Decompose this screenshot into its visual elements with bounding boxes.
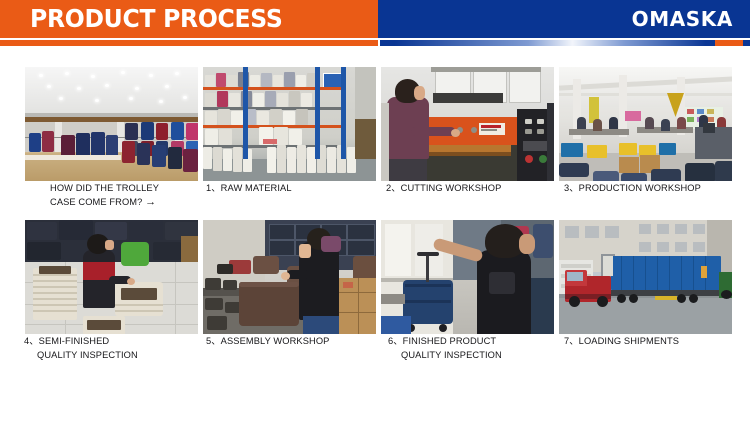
caption-raw-material: 1、RAW MATERIAL	[202, 182, 381, 196]
thumb-loading-shipments[interactable]	[558, 219, 733, 335]
caption-intro: HOW DID THE TROLLEY CASE COME FROM? →	[24, 182, 225, 209]
caption-assembly-number: 5、	[206, 336, 221, 346]
process-cell-intro: HOW DID THE TROLLEY CASE COME FROM? →	[24, 66, 199, 209]
caption-assembly-label: ASSEMBLY WORKSHOP	[221, 336, 330, 346]
caption-raw-material-number: 1、	[206, 183, 221, 193]
caption-finished-qc-line2: QUALITY INSPECTION	[388, 349, 563, 363]
caption-semi-finished-line2: QUALITY INSPECTION	[24, 349, 199, 363]
thumb-finished-product-inspection[interactable]	[380, 219, 555, 335]
thumb-semi-finished-inspection[interactable]	[24, 219, 199, 335]
process-cell-assembly: 5、ASSEMBLY WORKSHOP	[202, 219, 377, 362]
caption-production-label: PRODUCTION WORKSHOP	[579, 183, 701, 193]
page-title: PRODUCT PROCESS	[30, 4, 283, 34]
brand-underline-accent	[715, 40, 743, 46]
process-row-1: HOW DID THE TROLLEY CASE COME FROM? →	[24, 66, 727, 209]
caption-loading-label: LOADING SHIPMENTS	[579, 336, 679, 346]
caption-intro-line1: HOW DID THE TROLLEY	[50, 183, 159, 193]
brand-logo: OMASKA	[632, 8, 733, 30]
caption-raw-material-label: RAW MATERIAL	[221, 183, 292, 193]
thumb-production-workshop[interactable]	[558, 66, 733, 182]
thumb-raw-material[interactable]	[202, 66, 377, 182]
caption-production: 3、PRODUCTION WORKSHOP	[558, 182, 739, 196]
caption-semi-finished-line1: SEMI-FINISHED	[39, 336, 110, 346]
header-accent-bar-gradient	[380, 40, 750, 46]
caption-finished-qc: 6、FINISHED PRODUCT QUALITY INSPECTION	[380, 335, 563, 362]
caption-loading-number: 7、	[564, 336, 579, 346]
caption-cutting-label: CUTTING WORKSHOP	[401, 183, 502, 193]
process-cell-finished-qc: 6、FINISHED PRODUCT QUALITY INSPECTION	[380, 219, 555, 362]
caption-semi-finished: 4、SEMI-FINISHED QUALITY INSPECTION	[24, 335, 199, 362]
header-accent-bar-orange	[0, 40, 378, 46]
process-grid: HOW DID THE TROLLEY CASE COME FROM? →	[24, 66, 727, 362]
process-row-2: 4、SEMI-FINISHED QUALITY INSPECTION	[24, 219, 727, 362]
process-cell-cutting: 2、CUTTING WORKSHOP	[380, 66, 555, 209]
caption-loading: 7、LOADING SHIPMENTS	[558, 335, 739, 349]
caption-assembly: 5、ASSEMBLY WORKSHOP	[202, 335, 381, 349]
arrow-right-icon: →	[145, 196, 156, 208]
product-process-banner: PRODUCT PROCESS OMASKA	[0, 0, 750, 427]
caption-finished-qc-line1: FINISHED PRODUCT	[403, 336, 497, 346]
thumb-assembly-workshop[interactable]	[202, 219, 377, 335]
process-cell-semi-finished: 4、SEMI-FINISHED QUALITY INSPECTION	[24, 219, 199, 362]
header: PRODUCT PROCESS OMASKA	[0, 0, 750, 38]
caption-semi-finished-number: 4、	[24, 336, 39, 346]
caption-finished-qc-number: 6、	[388, 336, 403, 346]
caption-cutting-number: 2、	[386, 183, 401, 193]
process-cell-loading: 7、LOADING SHIPMENTS	[558, 219, 733, 362]
caption-cutting: 2、CUTTING WORKSHOP	[380, 182, 561, 196]
thumb-showroom[interactable]	[24, 66, 199, 182]
process-cell-production: 3、PRODUCTION WORKSHOP	[558, 66, 733, 209]
caption-intro-line2: CASE COME FROM?	[50, 197, 142, 207]
caption-production-number: 3、	[564, 183, 579, 193]
process-cell-raw-material: 1、RAW MATERIAL	[202, 66, 377, 209]
thumb-cutting-workshop[interactable]	[380, 66, 555, 182]
